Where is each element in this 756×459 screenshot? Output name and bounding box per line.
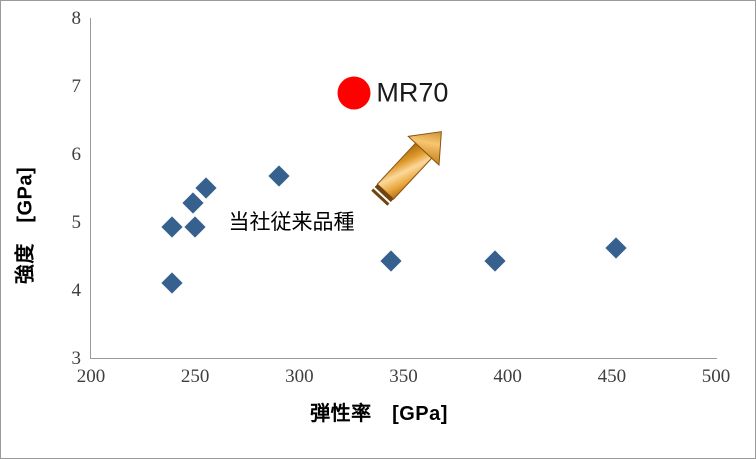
x-tick-label: 200 — [56, 367, 126, 386]
data-point-marker — [182, 192, 203, 213]
x-tick-label: 250 — [160, 367, 230, 386]
x-axis-line — [90, 358, 717, 359]
data-point-marker — [162, 272, 183, 293]
highlight-data-point — [337, 76, 370, 109]
growth-arrow-icon — [353, 113, 453, 208]
data-point-marker — [380, 251, 401, 272]
data-point-marker — [268, 165, 289, 186]
legacy-label: 当社従来品種 — [229, 206, 355, 236]
x-tick-label: 450 — [577, 367, 647, 386]
y-tick-label: 6 — [41, 145, 81, 164]
plot-area: MR70当社従来品種 — [91, 18, 716, 358]
x-tick-label: 400 — [473, 367, 543, 386]
data-point-marker — [485, 250, 506, 271]
y-tick-label: 7 — [41, 77, 81, 96]
y-axis-title: 強度 [GPa] — [9, 126, 38, 326]
data-point-marker — [605, 237, 626, 258]
x-tick-label: 500 — [681, 367, 751, 386]
x-tick-label: 300 — [264, 367, 334, 386]
data-point-marker — [162, 217, 183, 238]
y-tick-label: 3 — [41, 349, 81, 368]
data-point-marker — [195, 177, 216, 198]
data-point-marker — [185, 217, 206, 238]
chart-screenshot: 876543 — [0, 0, 756, 459]
y-tick-label: 4 — [41, 281, 81, 300]
mr70-label: MR70 — [376, 77, 448, 108]
x-tick-label: 350 — [369, 367, 439, 386]
x-axis-title: 弾性率 [GPa] — [1, 397, 756, 426]
y-tick-label: 5 — [41, 213, 81, 232]
y-tick-label: 8 — [41, 9, 81, 28]
